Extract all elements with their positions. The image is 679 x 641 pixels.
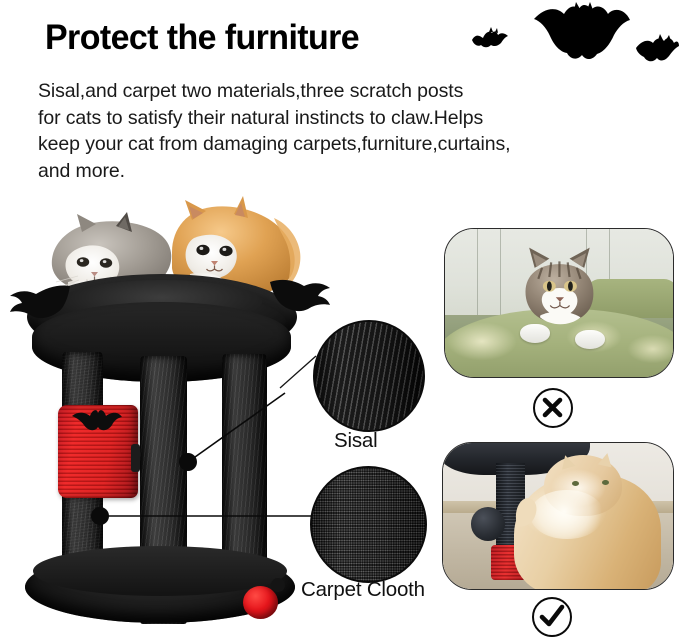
carpet-texture (310, 466, 427, 583)
body-line-4: and more. (38, 158, 648, 185)
body-line-2: for cats to satisfy their natural instin… (38, 105, 648, 132)
good-cat-eye (572, 481, 579, 486)
bad-example-x-icon (533, 388, 573, 428)
bat-small-left-icon (472, 27, 508, 47)
brush-bat-emblem-icon (70, 408, 124, 434)
bat-medium-right-icon (636, 34, 679, 61)
swatch-carpet (310, 466, 427, 583)
infographic-page: Protect the furniture Sisal,and carpet t… (0, 0, 679, 641)
page-title: Protect the furniture (45, 17, 359, 59)
bad-tabby-cat (507, 244, 612, 336)
bat-wing-right (270, 276, 332, 316)
photo-bad-example (444, 228, 674, 378)
good-cat-eye (602, 480, 609, 485)
good-cat-paw (505, 496, 546, 528)
bat-wing-left (6, 282, 72, 322)
swatch-label-sisal: Sisal (334, 429, 377, 453)
bat-large-center-icon (534, 2, 630, 59)
bad-cat-paw (520, 324, 550, 343)
bat-decoration-group (460, 2, 679, 82)
bad-wall-seam (500, 229, 501, 321)
bad-cat-paw (575, 330, 605, 349)
sisal-texture (313, 320, 425, 432)
red-pompom-toy (243, 586, 278, 619)
bad-wall-seam (477, 229, 478, 321)
good-example-check-icon (532, 597, 572, 637)
body-description: Sisal,and carpet two materials,three scr… (38, 78, 648, 184)
product-photo (0, 196, 330, 616)
photo-good-example (442, 442, 674, 590)
body-line-3: keep your cat from damaging carpets,furn… (38, 131, 648, 158)
good-hanging-ball (471, 507, 506, 541)
brush-clip (131, 444, 140, 472)
body-line-1: Sisal,and carpet two materials,three scr… (38, 78, 648, 105)
swatch-sisal (313, 320, 425, 432)
pompom-knot (271, 578, 285, 592)
swatch-label-carpet: Carpet Clooth (301, 578, 425, 602)
